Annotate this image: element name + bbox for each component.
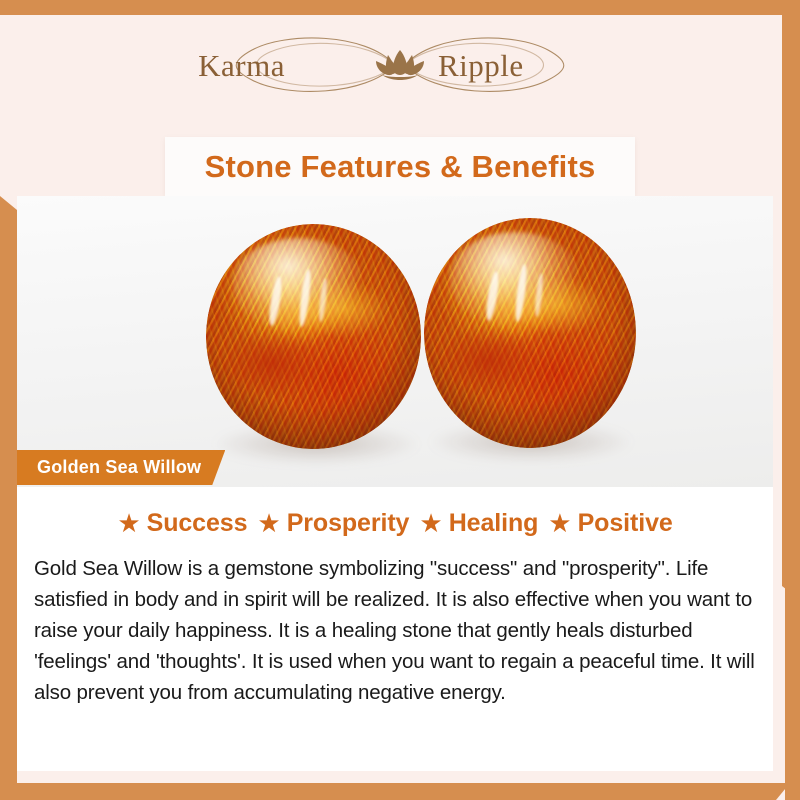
gemstone-sphere-right [424,218,636,448]
benefit-item: ★ Healing [409,509,538,538]
product-name-label: Golden Sea Willow [37,457,201,478]
poster-root: Karma Ripple Stone Features & Benefits [0,0,800,800]
product-photo-inner [64,196,726,487]
title-banner: Stone Features & Benefits [165,137,635,197]
frame-left-accent-band [0,196,17,788]
product-photo [17,196,773,487]
sphere-rim-shading [206,224,421,449]
brand-name-left: Karma [198,48,285,83]
gemstone-sphere-left [206,224,421,449]
benefit-item: ★ Success [117,509,247,538]
brand-logo: Karma Ripple [0,34,800,96]
frame-top-border [0,0,800,15]
page-title: Stone Features & Benefits [205,149,596,185]
star-icon: ★ [117,510,140,536]
benefits-row: ★ Success ★ Prosperity ★ Healing ★ Posit… [17,509,773,538]
brand-name-right: Ripple [438,48,524,83]
brand-logo-svg: Karma Ripple [190,34,610,96]
product-name-tag: Golden Sea Willow [17,450,225,485]
benefit-label: Prosperity [287,509,410,538]
benefit-label: Positive [578,509,673,538]
sphere-rim-shading [424,218,636,448]
content-card: Golden Sea Willow ★ Success ★ Prosperity… [17,196,773,771]
product-description: Gold Sea Willow is a gemstone symbolizin… [34,553,764,708]
star-icon: ★ [548,510,571,536]
benefit-label: Healing [449,509,539,538]
benefit-item: ★ Prosperity [247,509,409,538]
star-icon: ★ [257,510,280,536]
benefit-label: Success [147,509,248,538]
star-icon: ★ [419,510,442,536]
frame-bottom-accent-band [0,783,790,800]
benefit-item: ★ Positive [538,509,672,538]
